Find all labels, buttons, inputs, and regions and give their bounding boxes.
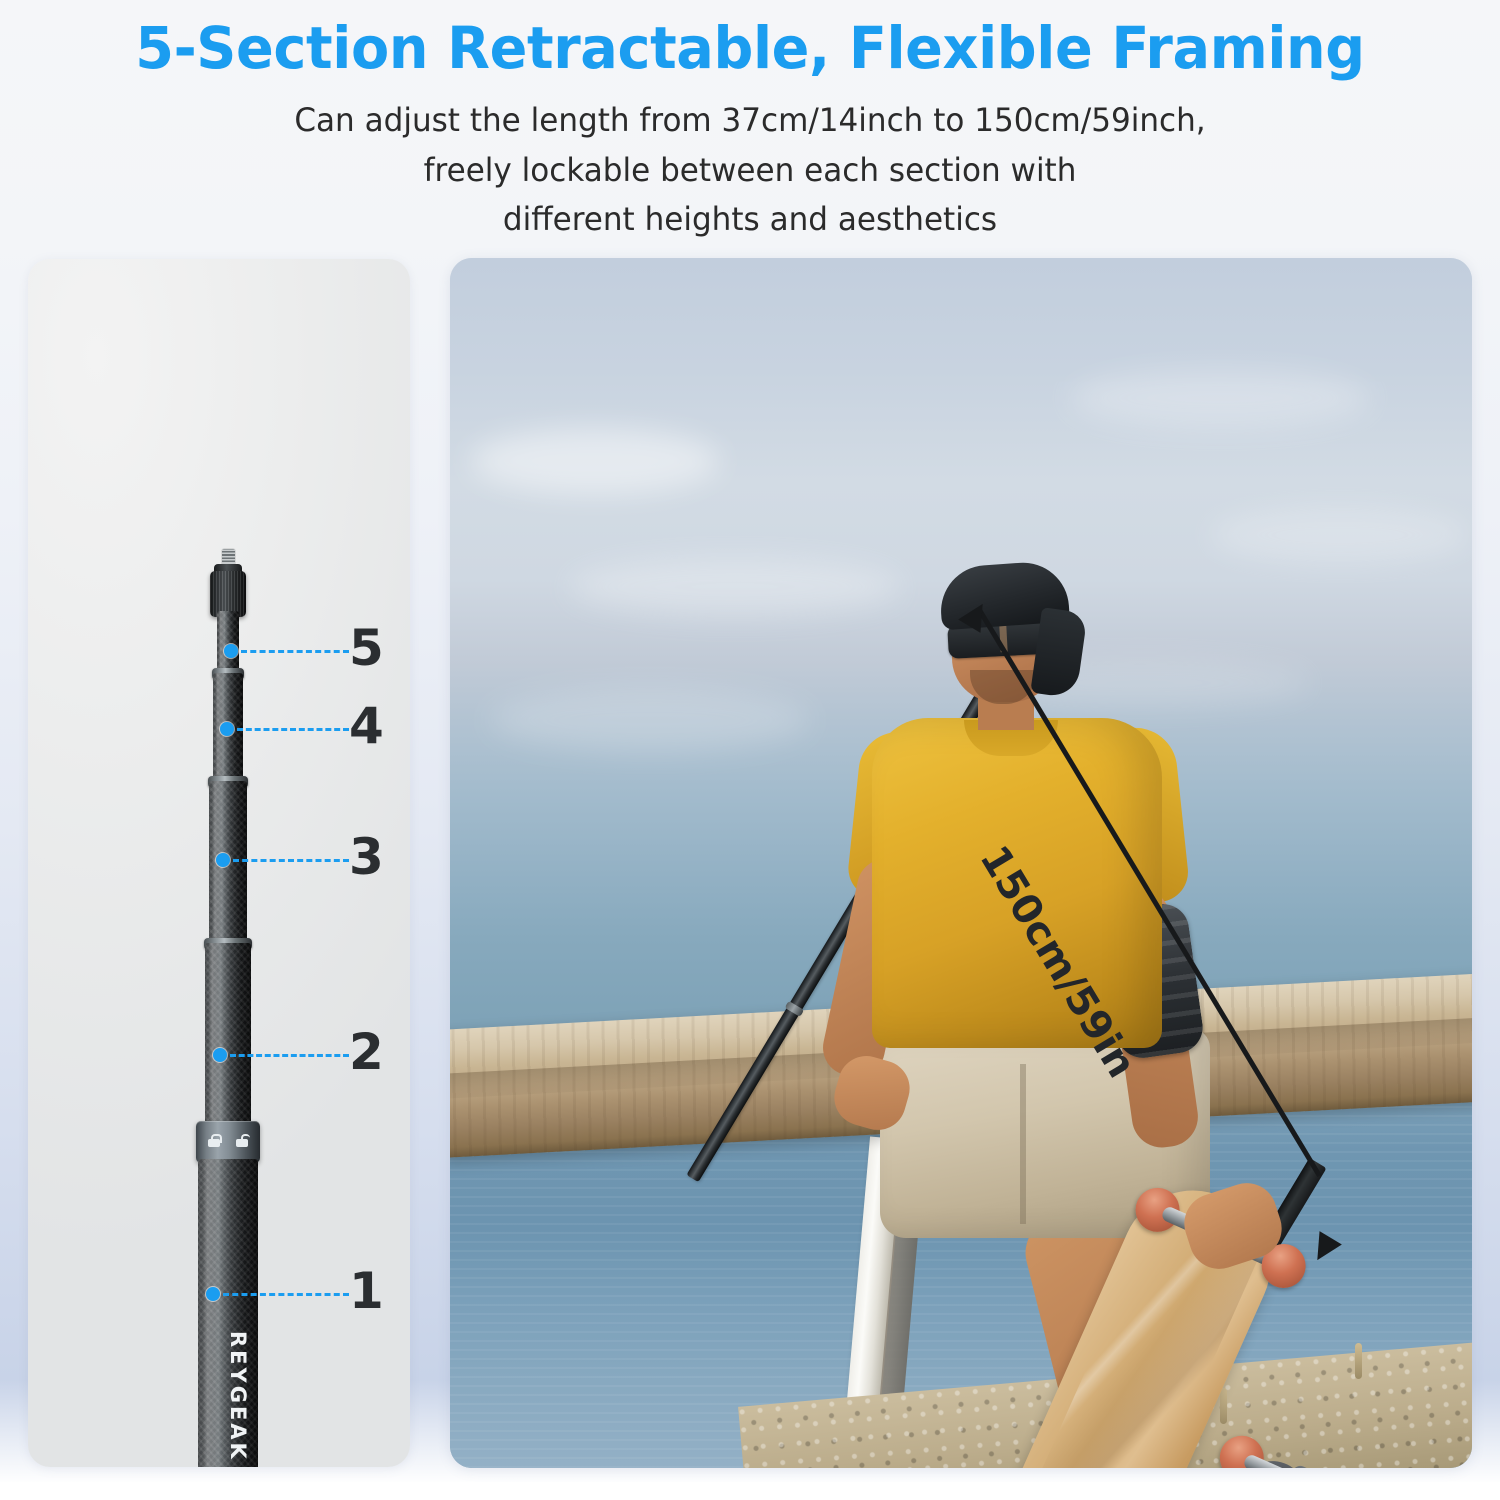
callout-dashed-line [237,728,349,731]
padlock-closed-icon [208,1134,220,1147]
callout-dot-icon [216,853,230,867]
callout-number: 3 [349,832,384,882]
photo-scene: 150cm/59in [450,258,1472,1468]
callout-number: 4 [349,701,384,751]
lock-collar [196,1121,260,1163]
callout-number: 1 [349,1266,384,1316]
callout-dot-icon [213,1048,227,1062]
padlock-open-icon [236,1134,248,1147]
header: 5-Section Retractable, Flexible Framing … [0,0,1500,258]
callout-dashed-line [233,859,349,862]
telescopic-pole-illustration: REYGEAK 5 4 3 2 1 [28,259,410,1467]
pole-section-2 [205,943,251,1133]
person [450,258,1472,1468]
callout-number: 5 [349,623,384,673]
bottom-strip [0,1482,1500,1500]
page-subtitle: Can adjust the length from 37cm/14inch t… [23,96,1478,245]
callout-dot-icon [206,1287,220,1301]
brand-logo-text: REYGEAK [226,1331,250,1451]
callout-dot-icon [220,722,234,736]
page-title: 5-Section Retractable, Flexible Framing [30,18,1470,79]
subtitle-line-3: different heights and aesthetics [23,195,1478,245]
product-diagram-panel: REYGEAK 5 4 3 2 1 [28,259,410,1467]
callout-dot-icon [224,644,238,658]
callout-dashed-line [230,1054,349,1057]
callout-number: 2 [349,1027,384,1077]
subtitle-line-2: freely lockable between each section wit… [23,146,1478,196]
subtitle-line-1: Can adjust the length from 37cm/14inch t… [23,96,1478,146]
callout-dashed-line [241,650,349,653]
pole-section-3 [209,781,247,953]
callout-dashed-line [223,1293,349,1296]
lifestyle-photo-panel: 150cm/59in [450,258,1472,1468]
